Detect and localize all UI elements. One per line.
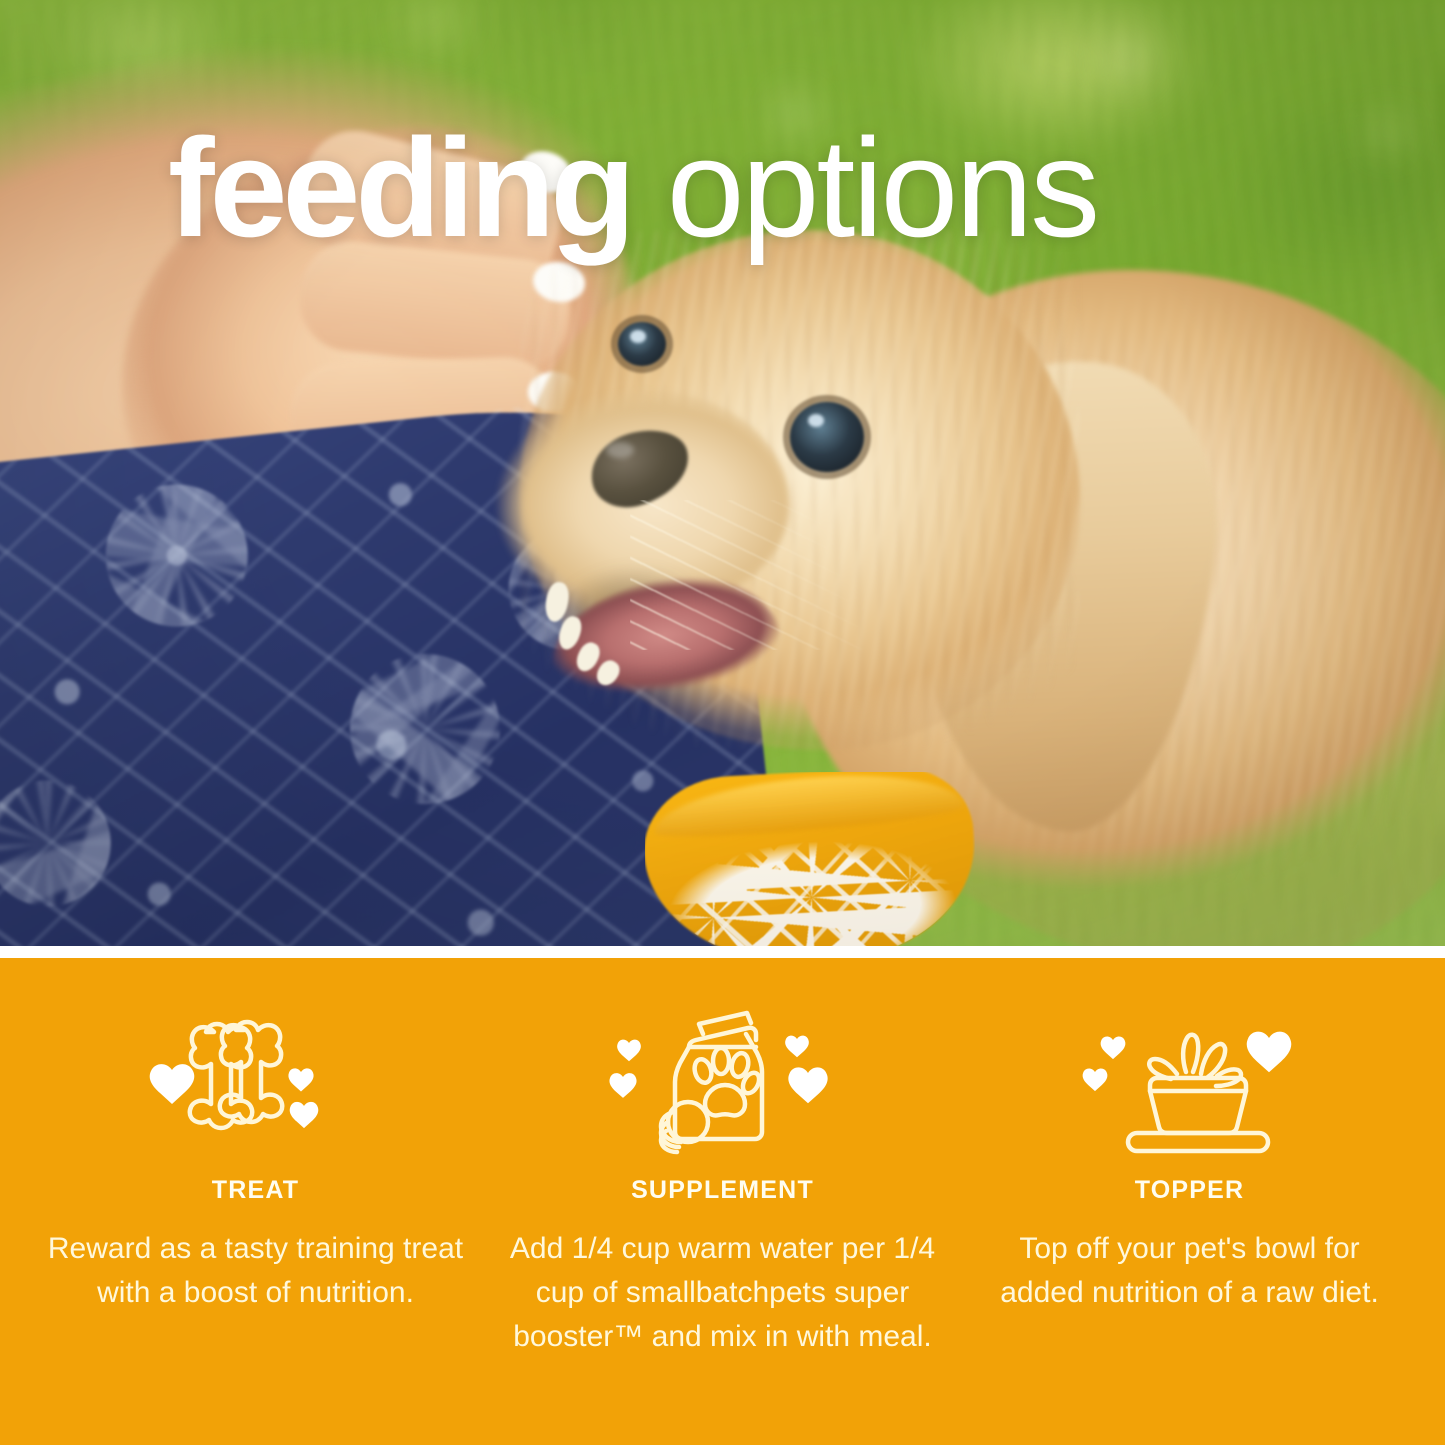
- hero-photo: feeding options: [0, 0, 1445, 946]
- option-title-supplement: SUPPLEMENT: [631, 1176, 814, 1205]
- option-title-treat: TREAT: [212, 1176, 299, 1205]
- option-description-topper: Top off your pet's bowl for added nutrit…: [980, 1227, 1400, 1315]
- dog-eye-right: [790, 402, 864, 472]
- option-column-topper: TOPPER Top off your pet's bowl for added…: [956, 1010, 1423, 1445]
- dog-bone-treat-icon: [136, 1010, 376, 1160]
- option-title-topper: TOPPER: [1135, 1176, 1245, 1205]
- dog-whiskers: [630, 500, 870, 650]
- option-column-treat: TREAT Reward as a tasty training treat w…: [22, 1010, 489, 1445]
- feeding-options-panel: TREAT Reward as a tasty training treat w…: [0, 958, 1445, 1445]
- options-columns: TREAT Reward as a tasty training treat w…: [0, 958, 1445, 1445]
- dog-nose-highlight: [606, 442, 634, 458]
- page-title-light: options: [631, 109, 1097, 266]
- dog-eye-highlight: [808, 414, 824, 427]
- feeding-options-infographic: feeding options: [0, 0, 1445, 1445]
- page-title: feeding options: [168, 118, 1348, 258]
- option-column-supplement: SUPPLEMENT Add 1/4 cup warm water per 1/…: [489, 1010, 956, 1445]
- page-title-bold: feeding: [168, 109, 631, 266]
- dog-eye-highlight: [630, 330, 646, 343]
- option-description-supplement: Add 1/4 cup warm water per 1/4 cup of sm…: [489, 1227, 956, 1359]
- dog-bandana: [645, 772, 975, 946]
- option-description-treat: Reward as a tasty training treat with a …: [46, 1227, 466, 1315]
- food-bag-paw-icon: [593, 1010, 853, 1160]
- dog-eye-left: [618, 322, 666, 366]
- dog-bowl-topper-icon: [1065, 1010, 1315, 1160]
